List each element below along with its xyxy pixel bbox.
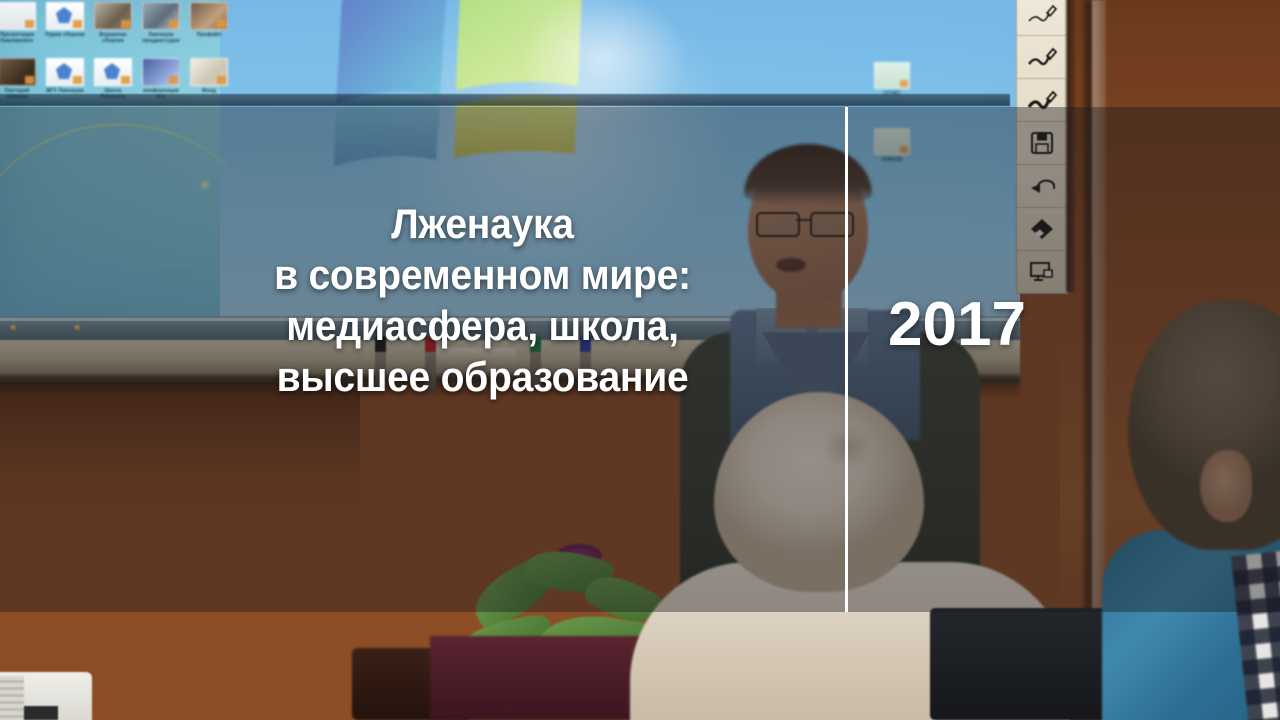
file-thumbnail-icon: [190, 2, 228, 30]
file-thumbnail-icon: [46, 58, 84, 86]
desktop-icon-label: ОТЧЁТ: [868, 91, 916, 97]
file-thumbnail-icon: [142, 2, 180, 30]
air-conditioner-grill: [0, 676, 24, 720]
page-title: Лженаука в современном мире: медиасфера,…: [34, 198, 931, 402]
desktop-icon[interactable]: ОТЧЁТ: [868, 62, 916, 97]
year-label: 2017: [888, 292, 1138, 358]
desktop-icon[interactable]: Лекторий семинар: [0, 58, 38, 100]
desktop-icon[interactable]: Профайл: [188, 2, 230, 38]
desktop-icon[interactable]: Фонд: [188, 58, 230, 94]
desktop-icon[interactable]: конференция мгу: [140, 58, 182, 100]
desktop-icon-label: Лженаука предрассудки: [140, 32, 182, 44]
desktop-icon-label: МГУ Лженаука: [44, 88, 86, 94]
video-frame: Презентация Кашпировск Лурия сборник Вер…: [0, 0, 1280, 720]
file-thumbnail-icon: [190, 58, 228, 86]
desktop-icon-label: Школа Лженаука: [92, 88, 134, 100]
file-thumbnail-icon: [94, 2, 132, 30]
file-thumbnail-icon: [46, 2, 84, 30]
toolbar-button-pen-thin[interactable]: [1017, 0, 1067, 36]
desktop-icon-grid: Презентация Кашпировск Лурия сборник Вер…: [0, 0, 234, 108]
desktop-icon[interactable]: Презентация Кашпировск: [0, 2, 38, 44]
desktop-icon[interactable]: Вершинин сборник: [92, 2, 134, 44]
file-thumbnail-icon: [0, 58, 36, 86]
file-thumbnail-icon: [94, 58, 132, 86]
desktop-icon[interactable]: Школа Лженаука: [92, 58, 134, 100]
desktop-icon-label: Презентация Кашпировск: [0, 32, 38, 44]
desktop-icon-label: Фонд: [188, 88, 230, 94]
toolbar-button-pen-medium[interactable]: [1017, 36, 1067, 79]
file-thumbnail-icon: [0, 2, 36, 30]
desktop-icon[interactable]: МГУ Лженаука: [44, 58, 86, 94]
pencil-icon: [1027, 46, 1057, 68]
file-thumbnail-icon: [874, 62, 910, 89]
desktop-icon-label: Лурия сборник: [44, 32, 86, 38]
desktop-icon[interactable]: Лженаука предрассудки: [140, 2, 182, 44]
file-thumbnail-icon: [142, 58, 180, 86]
desktop-icon-label: Вершинин сборник: [92, 32, 134, 44]
pencil-icon: [1027, 3, 1057, 25]
desktop-icon[interactable]: Лурия сборник: [44, 2, 86, 38]
desktop-icon-label: Профайл: [188, 32, 230, 38]
desktop-icon-label: конференция мгу: [140, 88, 182, 100]
desktop-icon-label: Лекторий семинар: [0, 88, 38, 100]
